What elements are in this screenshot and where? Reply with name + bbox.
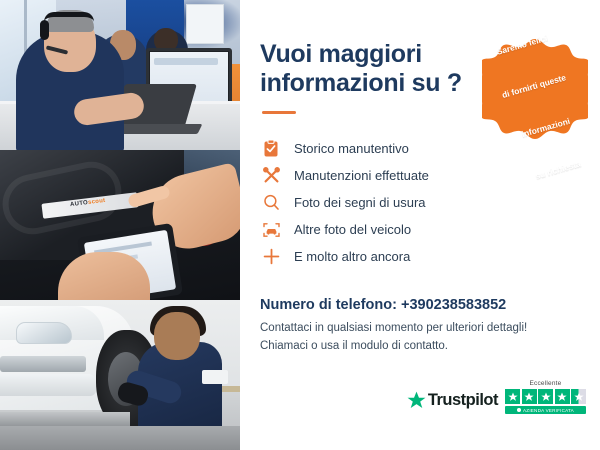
phone-label: Numero di telefono: — [260, 297, 397, 313]
headline-line-2: informazioni su ? — [260, 69, 462, 97]
magnifier-icon — [260, 193, 282, 213]
feature-label: Altre foto del veicolo — [294, 222, 411, 237]
trustpilot-wordmark: Trustpilot — [428, 391, 498, 410]
badge-line-1: Saremo felici — [484, 13, 556, 61]
phone-description-line-2: Chiamaci o usa il modulo di contatto. — [260, 340, 448, 352]
feature-item-altre-foto-del-veicolo: Altre foto del veicolo — [260, 216, 578, 243]
trustpilot-star-icon — [407, 391, 426, 410]
trustpilot-rating-label: Eccellente — [530, 380, 562, 387]
headline-line-1: Vuoi maggiori — [260, 40, 422, 68]
star-1 — [505, 389, 520, 404]
verified-check-icon — [517, 408, 521, 412]
phone-number[interactable]: +390238583852 — [401, 297, 506, 313]
badge-line-2: di fornirti queste — [496, 54, 568, 102]
clipboard-check-icon — [260, 139, 282, 159]
star-3 — [538, 389, 553, 404]
title-divider — [262, 111, 296, 114]
page-title: Vuoi maggiori informazioni su ? — [260, 40, 475, 98]
feature-item-foto-dei-segni-di-usura: Foto dei segni di usura — [260, 189, 578, 216]
trustpilot-score: Eccellente — [505, 380, 586, 414]
phone-number-title[interactable]: Numero di telefono: +390238583852 — [260, 297, 578, 313]
crossed-tools-icon — [260, 166, 282, 186]
content-panel: Vuoi maggiori informazioni su ? Saremo f… — [240, 0, 600, 450]
feature-label: Storico manutentivo — [294, 141, 409, 156]
phone-description: Contattaci in qualsiasi momento per ulte… — [260, 320, 578, 356]
phone-block: Numero di telefono: +390238583852 Contat… — [260, 297, 578, 356]
plus-icon — [260, 247, 282, 267]
photo-column: AUTOscout — [0, 0, 240, 450]
feature-label: E molto altro ancora — [294, 249, 410, 264]
verified-label: AZIENDA VERIFICATA — [523, 408, 574, 413]
advertisement-card: AUTOscout Vuoi maggiori — [0, 0, 600, 450]
feature-label: Manutenzioni effettuate — [294, 168, 429, 183]
verified-company-badge: AZIENDA VERIFICATA — [505, 406, 586, 414]
trustpilot-rating[interactable]: Trustpilot Eccellente — [407, 380, 586, 414]
photo-technician-inspecting-car-panel-with-tablet: AUTOscout — [0, 150, 240, 300]
car-frame-icon — [260, 220, 282, 240]
feature-label: Foto dei segni di usura — [294, 195, 426, 210]
trustpilot-logo: Trustpilot — [407, 391, 498, 414]
photo-call-center-agents-with-headsets — [0, 0, 240, 150]
callout-badge: Saremo felici di fornirti queste informa… — [482, 37, 588, 143]
badge-line-3: informazioni — [507, 96, 579, 144]
star-4 — [555, 389, 570, 404]
phone-description-line-1: Contattaci in qualsiasi momento per ulte… — [260, 322, 527, 334]
photo-mechanic-checking-wheel-on-lifted-white-car — [0, 300, 240, 450]
star-5 — [571, 389, 586, 404]
star-2 — [522, 389, 537, 404]
trustpilot-stars — [505, 389, 586, 404]
feature-item-e-molto-altro-ancora: E molto altro ancora — [260, 243, 578, 270]
